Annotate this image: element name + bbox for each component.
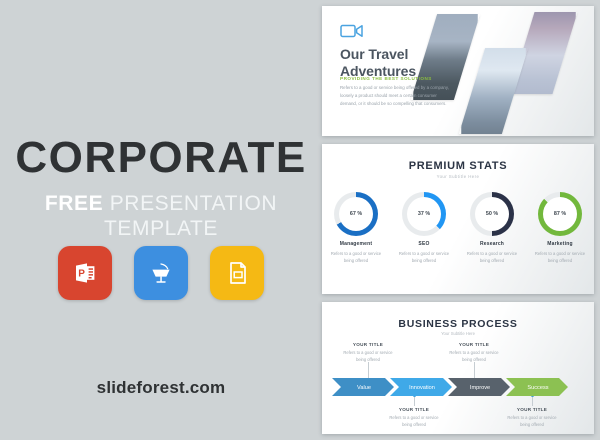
slide-travel[interactable]: Our Travel Adventures PROVIDING THE BEST… — [322, 6, 594, 136]
callout-title: YOUR TITLE — [338, 342, 398, 347]
powerpoint-icon[interactable]: P — [58, 246, 112, 300]
keynote-icon[interactable] — [134, 246, 188, 300]
slide-stats-subtitle: Your Subtitle Here — [322, 174, 594, 179]
callout-body: Refers to a good or service being offere… — [502, 414, 562, 429]
donut-label: Management — [328, 241, 384, 247]
donut-body: Refers to a good or service being offere… — [328, 250, 384, 265]
donut-body: Refers to a good or service being offere… — [532, 250, 588, 265]
hero-subtitle-line2: TEMPLATE — [0, 217, 322, 241]
slide-travel-title-line1: Our Travel — [340, 46, 408, 62]
callout-bottom-2: YOUR TITLE Refers to a good or service b… — [502, 407, 562, 429]
donut-value: 50 % — [470, 192, 514, 236]
donut-ring: 87 % — [538, 192, 582, 236]
chevron-label: Success — [527, 385, 548, 391]
site-url[interactable]: slideforest.com — [0, 378, 322, 398]
slide-stats-title: PREMIUM STATS — [322, 160, 594, 172]
slide-travel-subtitle: PROVIDING THE BEST SOLUTIONS — [340, 76, 470, 81]
donut-item: 50 %ResearchRefers to a good or service … — [464, 192, 520, 265]
donut-body: Refers to a good or service being offere… — [396, 250, 452, 265]
google-slides-icon[interactable] — [210, 246, 264, 300]
callout-top-1: YOUR TITLE Refers to a good or service b… — [338, 342, 398, 364]
donut-chart-group: 67 %ManagementRefers to a good or servic… — [322, 192, 594, 265]
hero-subtitle-free: FREE — [45, 192, 103, 215]
donut-item: 87 %MarketingRefers to a good or service… — [532, 192, 588, 265]
poster-canvas: CORPORATE FREE PRESENTATION TEMPLATE P — [0, 0, 600, 440]
donut-value: 37 % — [402, 192, 446, 236]
donut-item: 37 %SEORefers to a good or service being… — [396, 192, 452, 265]
page-title: CORPORATE — [0, 136, 322, 180]
donut-ring: 37 % — [402, 192, 446, 236]
donut-item: 67 %ManagementRefers to a good or servic… — [328, 192, 384, 265]
slide-stats[interactable]: PREMIUM STATS Your Subtitle Here 67 %Man… — [322, 144, 594, 294]
callout-top-2: YOUR TITLE Refers to a good or service b… — [444, 342, 504, 364]
hero-panel: CORPORATE FREE PRESENTATION TEMPLATE P — [0, 0, 322, 440]
chevron-label: Innovation — [409, 385, 435, 391]
svg-text:P: P — [78, 269, 85, 280]
callout-title: YOUR TITLE — [384, 407, 444, 412]
chevron-label: Improve — [470, 385, 490, 391]
video-camera-icon — [340, 23, 366, 44]
hero-title-block: CORPORATE FREE PRESENTATION TEMPLATE — [0, 136, 322, 241]
donut-ring: 67 % — [334, 192, 378, 236]
donut-body: Refers to a good or service being offere… — [464, 250, 520, 265]
format-icons: P — [0, 246, 322, 300]
hero-subtitle: FREE PRESENTATION TEMPLATE — [0, 192, 322, 241]
callout-body: Refers to a good or service being offere… — [384, 414, 444, 429]
slide-travel-body: Refers to a good or service being offere… — [340, 84, 452, 108]
donut-value: 67 % — [334, 192, 378, 236]
chevron-label: Value — [357, 385, 371, 391]
donut-ring: 50 % — [470, 192, 514, 236]
callout-title: YOUR TITLE — [444, 342, 504, 347]
donut-label: Marketing — [532, 241, 588, 247]
chevron-svg: ValueInnovationImproveSuccess — [332, 378, 578, 396]
callout-title: YOUR TITLE — [502, 407, 562, 412]
hero-subtitle-rest: PRESENTATION — [103, 192, 277, 215]
callout-bottom-1: YOUR TITLE Refers to a good or service b… — [384, 407, 444, 429]
donut-value: 87 % — [538, 192, 582, 236]
slide-process-subtitle: Your Subtitle Here — [322, 331, 594, 336]
donut-label: Research — [464, 241, 520, 247]
donut-label: SEO — [396, 241, 452, 247]
slide-process-title: BUSINESS PROCESS — [322, 318, 594, 330]
process-chevron-group: ValueInnovationImproveSuccess — [332, 378, 578, 401]
slide-process[interactable]: BUSINESS PROCESS Your Subtitle Here YOUR… — [322, 302, 594, 434]
